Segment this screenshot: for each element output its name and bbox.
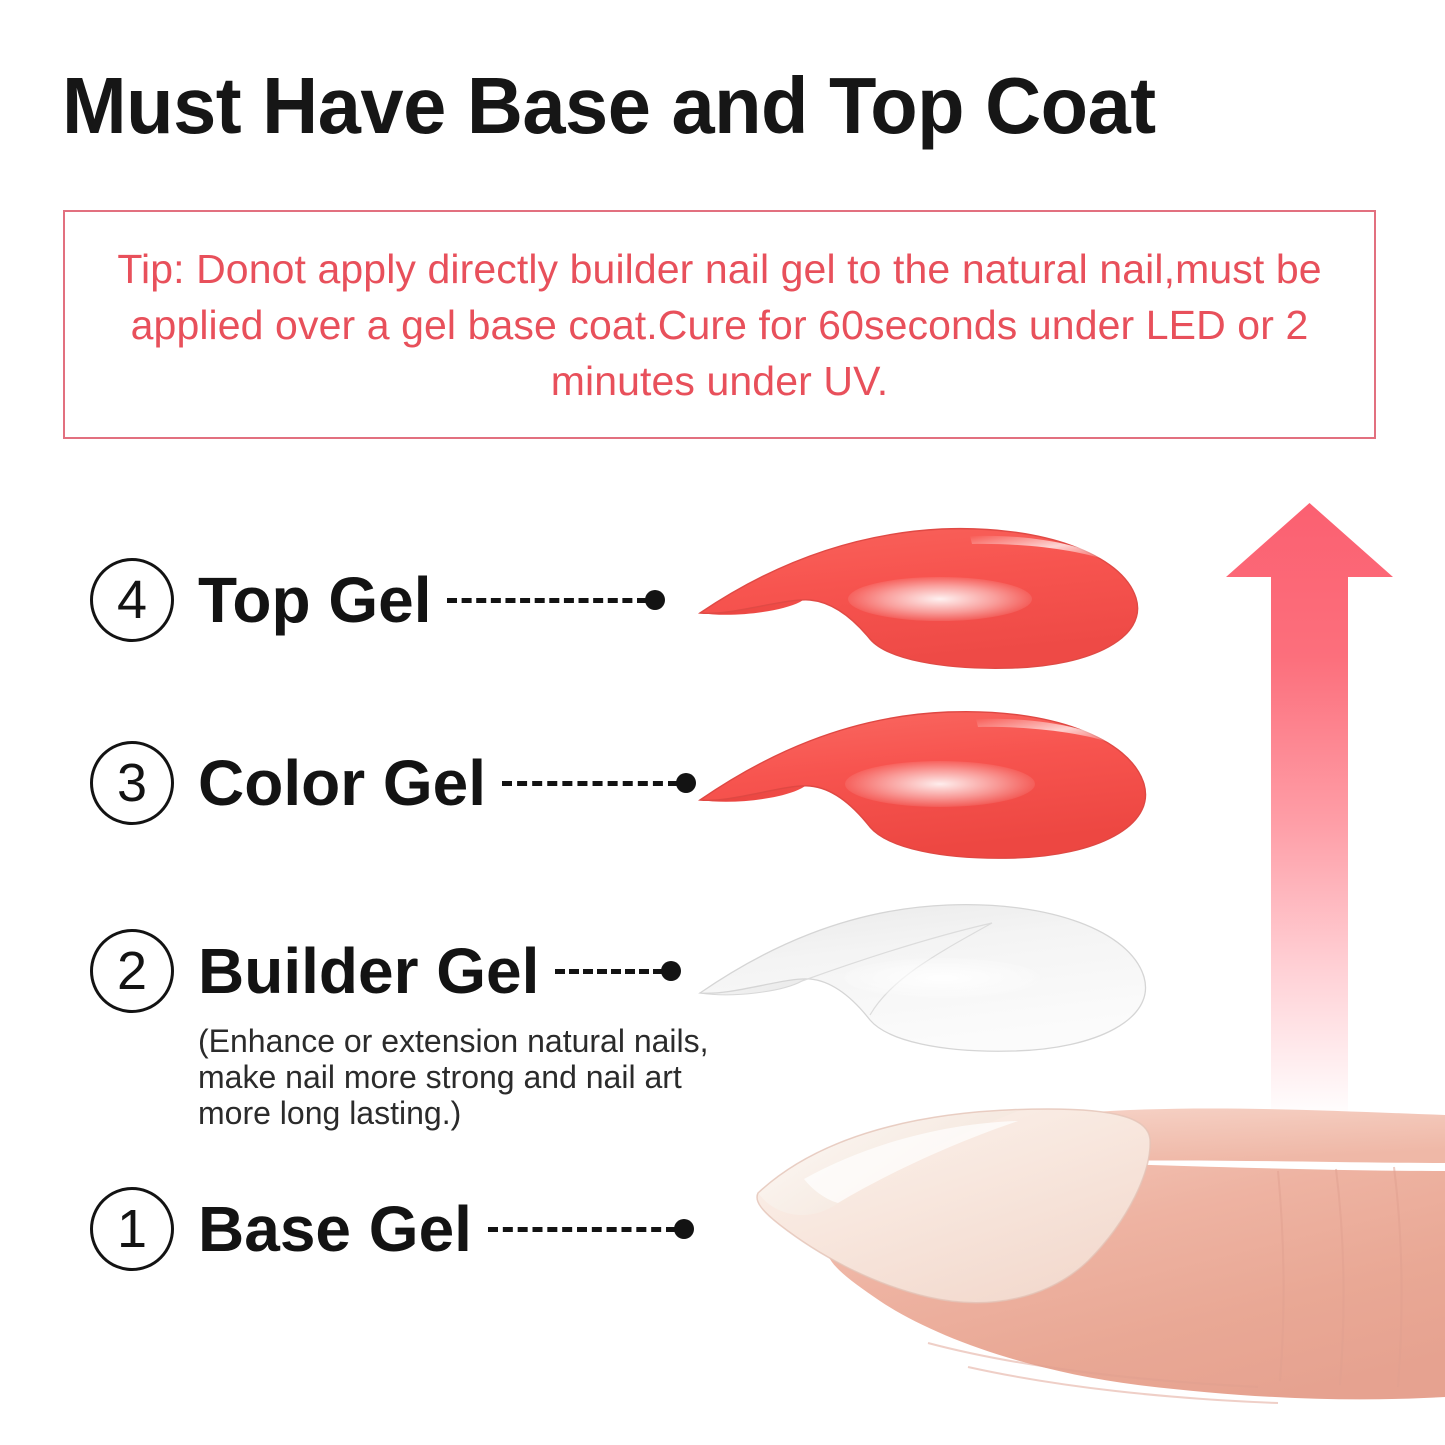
step-number-badge-4: 4: [90, 558, 174, 642]
step-number-badge-3: 3: [90, 741, 174, 825]
upward-progress-arrow: [1222, 497, 1397, 1122]
builder-gel-note: (Enhance or extension natural nails, mak…: [198, 1023, 743, 1131]
red-nail-gel-swatch-color: [692, 700, 1162, 880]
nail-center-highlight: [844, 958, 1040, 998]
red-nail-gel-swatch-top: [692, 516, 1162, 691]
leader-endpoint-dot-icon: [645, 590, 665, 610]
step-row-top-gel: 4 Top Gel: [90, 554, 665, 646]
infographic-root: Must Have Base and Top Coat Tip: Donot a…: [0, 0, 1445, 1445]
leader-dashes-icon: [488, 1227, 676, 1232]
leader-dashes-icon: [555, 969, 663, 974]
leader-endpoint-dot-icon: [674, 1219, 694, 1239]
leader-line-builder-gel: [555, 966, 681, 976]
nail-center-highlight: [845, 761, 1035, 807]
tip-box: Tip: Donot apply directly builder nail g…: [63, 210, 1376, 439]
leader-dashes-icon: [502, 781, 678, 786]
leader-line-color-gel: [502, 778, 696, 788]
step-label-base-gel: Base Gel: [198, 1197, 472, 1261]
step-number-badge-1: 1: [90, 1187, 174, 1271]
clear-nail-gel-swatch-builder: [692, 893, 1162, 1073]
fingertip-with-natural-nail: [718, 1075, 1445, 1445]
step-label-top-gel: Top Gel: [198, 568, 431, 632]
arrow-shape: [1226, 503, 1393, 1119]
step-label-color-gel: Color Gel: [198, 751, 486, 815]
leader-line-top-gel: [447, 595, 665, 605]
step-number-badge-2: 2: [90, 929, 174, 1013]
nail-center-highlight: [848, 577, 1032, 621]
leader-line-base-gel: [488, 1224, 694, 1234]
step-row-builder-gel: 2 Builder Gel: [90, 925, 681, 1017]
leader-endpoint-dot-icon: [661, 961, 681, 981]
step-row-base-gel: 1 Base Gel: [90, 1183, 694, 1275]
tip-text: Tip: Donot apply directly builder nail g…: [65, 241, 1374, 409]
page-title: Must Have Base and Top Coat: [62, 58, 1352, 154]
step-label-builder-gel: Builder Gel: [198, 939, 539, 1003]
step-row-color-gel: 3 Color Gel: [90, 737, 696, 829]
leader-dashes-icon: [447, 598, 647, 603]
